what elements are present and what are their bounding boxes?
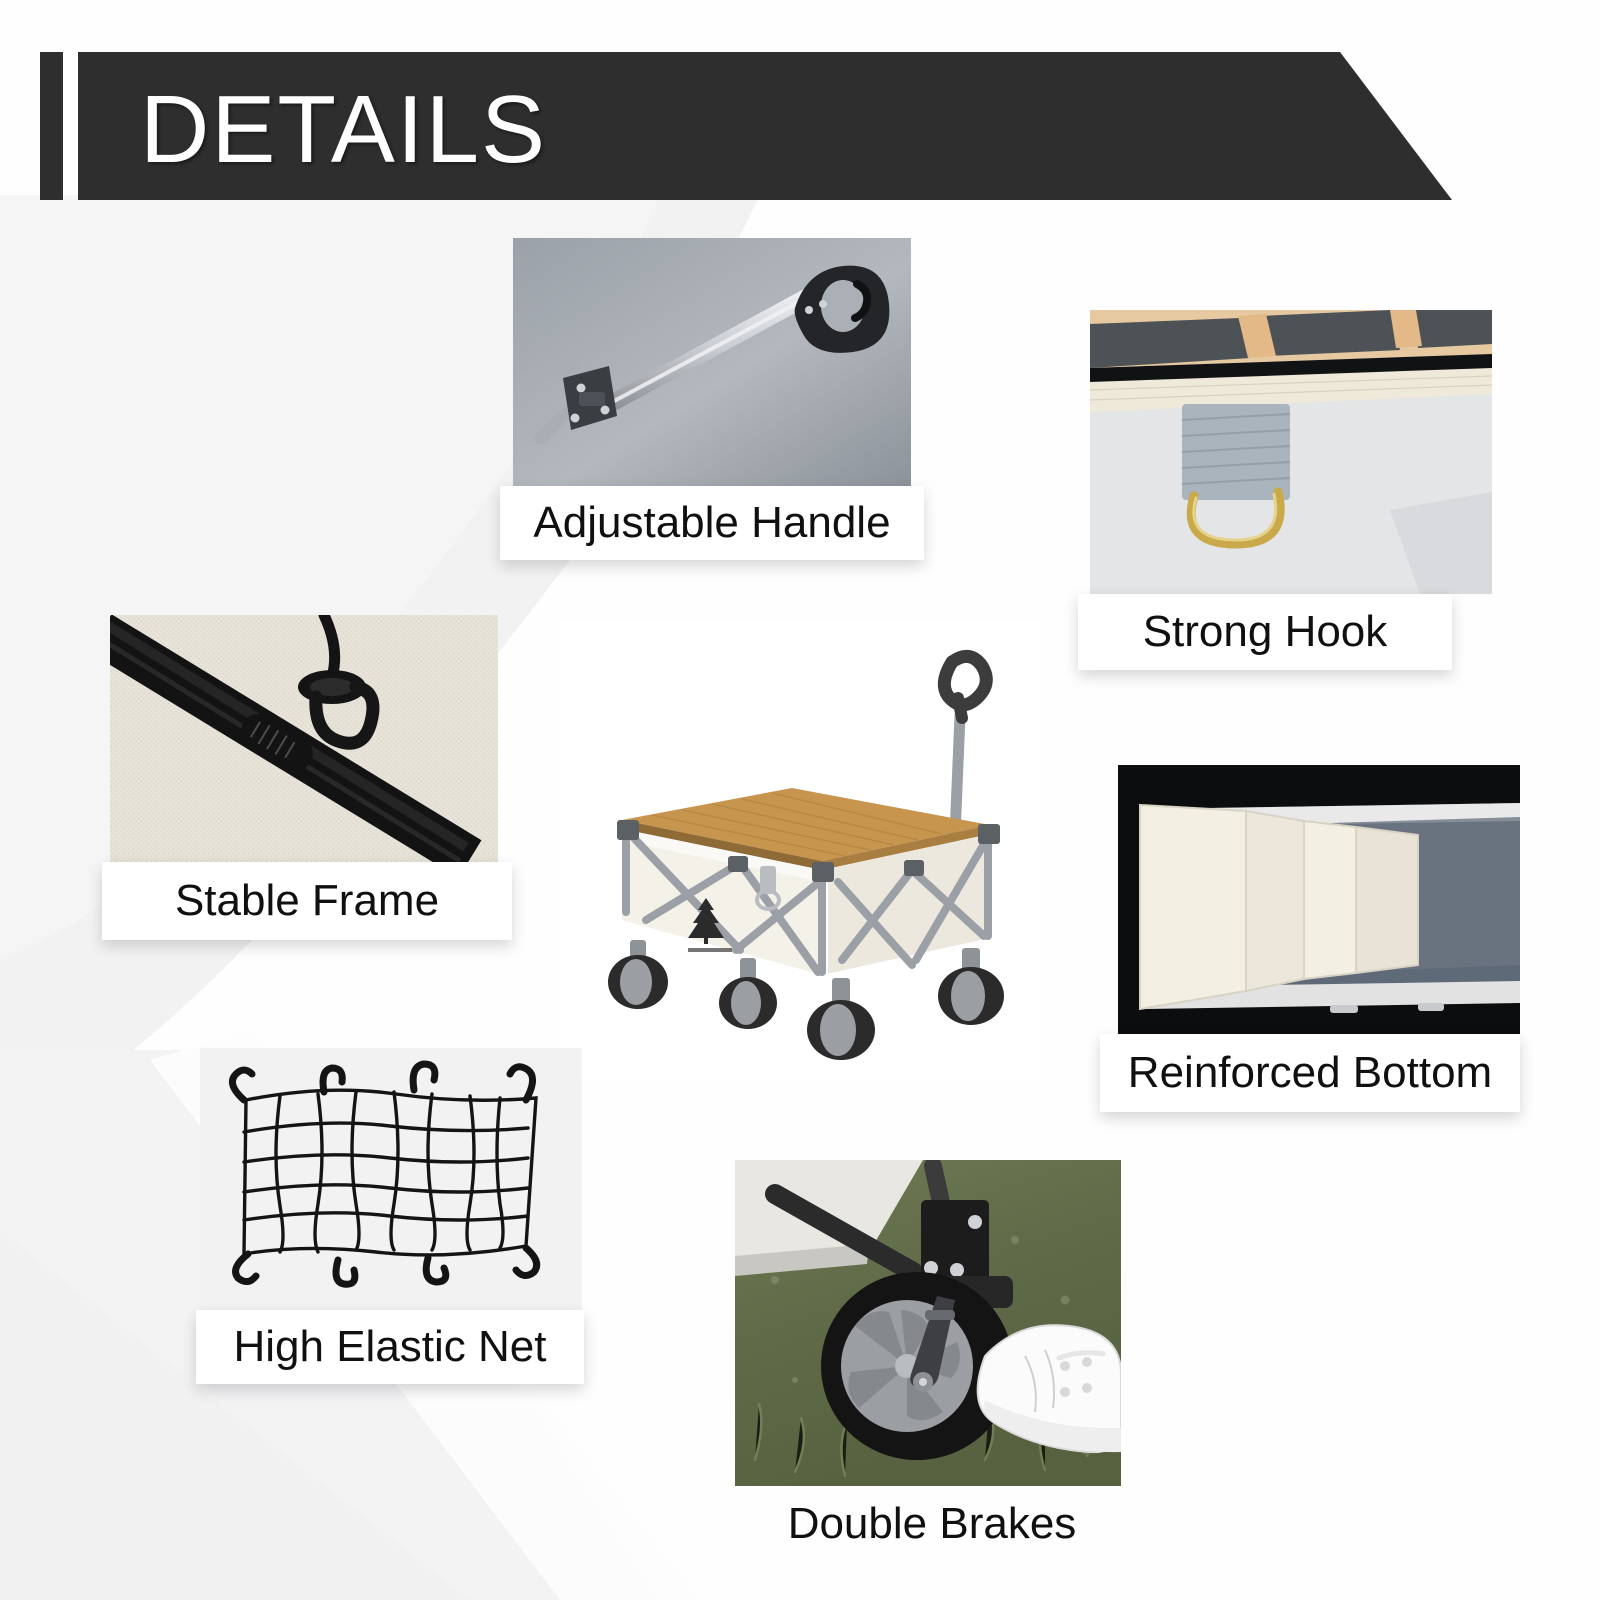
feature-card-double-brakes: Double Brakes [0,0,1600,1600]
feature-label: Double Brakes [722,1501,1142,1547]
feature-caption-double-brakes: Double Brakes [722,1484,1142,1564]
infographic-canvas: DETAILS [0,0,1600,1600]
double-brakes-photo [735,1160,1121,1486]
